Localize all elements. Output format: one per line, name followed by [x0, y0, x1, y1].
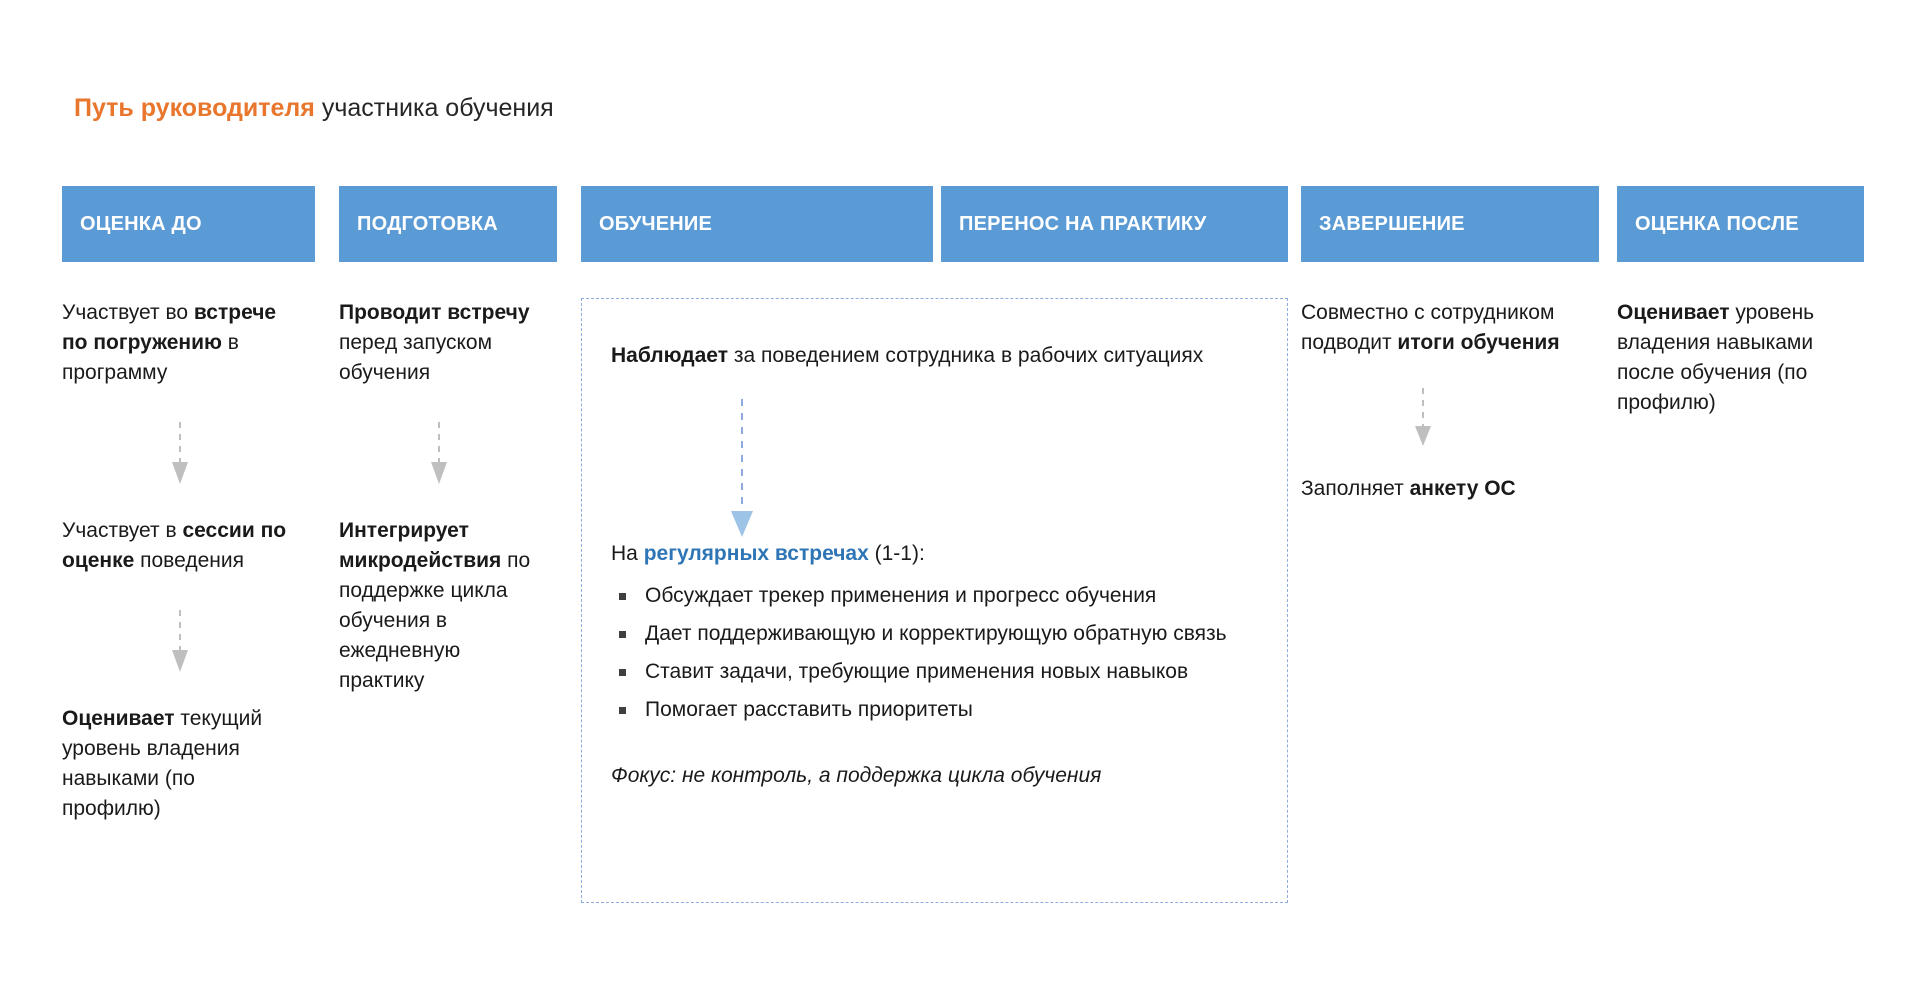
panel-observe-post: за поведением сотрудника в рабочих ситуа…	[728, 344, 1203, 367]
block-bold: Оценивает	[62, 707, 175, 730]
column-body-preparation: Проводит встречу перед запуском обучения…	[339, 298, 557, 696]
list-item: Помогает расставить приоритеты	[611, 691, 1265, 729]
stage-columns: ОЦЕНКА ДО Участвует во встрече по погруж…	[0, 186, 1920, 966]
panel-bullet-list: Обсуждает трекер применения и прогресс о…	[611, 577, 1265, 729]
column-header-transfer-to-practice: ПЕРЕНОС НА ПРАКТИКУ	[941, 186, 1288, 262]
lead-post: (1-1):	[869, 542, 925, 565]
panel-meetings-section: На регулярных встречах (1-1): Обсуждает …	[611, 539, 1265, 791]
text-block: Оценивает уровень владения навыками посл…	[1617, 298, 1846, 418]
panel-focus-note: Фокус: не контроль, а поддержка цикла об…	[611, 761, 1265, 791]
text-block: Совместно с сотрудником подводит итоги о…	[1301, 298, 1581, 358]
page-title-accent: Путь руководителя	[74, 94, 315, 122]
bullet-square-icon	[619, 631, 626, 638]
block-pre: Участвует во	[62, 301, 194, 324]
list-item: Дает поддерживающую и корректирующую обр…	[611, 615, 1265, 653]
column-header-completion: ЗАВЕРШЕНИЕ	[1301, 186, 1599, 262]
column-completion: ЗАВЕРШЕНИЕ Совместно с сотрудником подво…	[1301, 186, 1599, 504]
block-pre: Участвует в	[62, 519, 182, 542]
column-body-assessment-after: Оценивает уровень владения навыками посл…	[1617, 298, 1864, 418]
panel-observe-text: Наблюдает за поведением сотрудника в раб…	[611, 341, 1267, 371]
training-practice-panel: Наблюдает за поведением сотрудника в раб…	[581, 298, 1288, 903]
column-header-assessment-before: ОЦЕНКА ДО	[62, 186, 315, 262]
list-item-label: Обсуждает трекер применения и прогресс о…	[645, 584, 1156, 607]
block-bold: анкету ОС	[1410, 477, 1516, 500]
text-block: Участвует в сессии по оценке поведения	[62, 516, 297, 576]
column-body-completion: Совместно с сотрудником подводит итоги о…	[1301, 298, 1599, 504]
flow-arrow-down-icon	[339, 422, 539, 486]
block-bold: Интегрирует микродействия	[339, 519, 501, 572]
block-pre: Заполняет	[1301, 477, 1410, 500]
flow-arrow-down-icon	[62, 610, 297, 674]
list-item-label: Ставит задачи, требующие применения новы…	[645, 660, 1188, 683]
block-bold: Оценивает	[1617, 301, 1730, 324]
block-bold: Проводит встречу	[339, 301, 530, 324]
list-item-label: Помогает расставить приоритеты	[645, 698, 973, 721]
text-block: Проводит встречу перед запуском обучения	[339, 298, 539, 388]
text-block: Интегрирует микродействия по поддержке ц…	[339, 516, 539, 696]
block-post: перед запуском обучения	[339, 331, 492, 384]
column-transfer-to-practice: ПЕРЕНОС НА ПРАКТИКУ	[941, 186, 1288, 262]
column-assessment-before: ОЦЕНКА ДО Участвует во встрече по погруж…	[62, 186, 315, 824]
column-preparation: ПОДГОТОВКА Проводит встречу перед запуск…	[339, 186, 557, 696]
flow-arrow-down-icon	[722, 399, 762, 539]
list-item: Ставит задачи, требующие применения новы…	[611, 653, 1265, 691]
page-title: Путь руководителя участника обучения	[74, 93, 554, 123]
column-header-training: ОБУЧЕНИЕ	[581, 186, 933, 262]
flow-arrow-down-icon	[62, 422, 297, 486]
page-title-rest: участника обучения	[315, 94, 554, 122]
lead-accent: регулярных встречах	[644, 542, 869, 565]
text-block: Участвует во встрече по погружению в про…	[62, 298, 297, 388]
block-bold: итоги обучения	[1397, 331, 1559, 354]
column-header-preparation: ПОДГОТОВКА	[339, 186, 557, 262]
panel-meetings-lead: На регулярных встречах (1-1):	[611, 539, 1265, 569]
text-block: Заполняет анкету ОС	[1301, 474, 1581, 504]
bullet-square-icon	[619, 593, 626, 600]
block-post: поведения	[134, 549, 244, 572]
bullet-square-icon	[619, 707, 626, 714]
column-training: ОБУЧЕНИЕ	[581, 186, 933, 262]
text-block: Оценивает текущий уровень владения навык…	[62, 704, 297, 824]
column-assessment-after: ОЦЕНКА ПОСЛЕ Оценивает уровень владения …	[1617, 186, 1864, 418]
column-body-assessment-before: Участвует во встрече по погружению в про…	[62, 298, 315, 824]
column-header-assessment-after: ОЦЕНКА ПОСЛЕ	[1617, 186, 1864, 262]
panel-observe-bold: Наблюдает	[611, 344, 728, 367]
lead-pre: На	[611, 542, 644, 565]
list-item: Обсуждает трекер применения и прогресс о…	[611, 577, 1265, 615]
list-item-label: Дает поддерживающую и корректирующую обр…	[645, 622, 1227, 645]
bullet-square-icon	[619, 669, 626, 676]
